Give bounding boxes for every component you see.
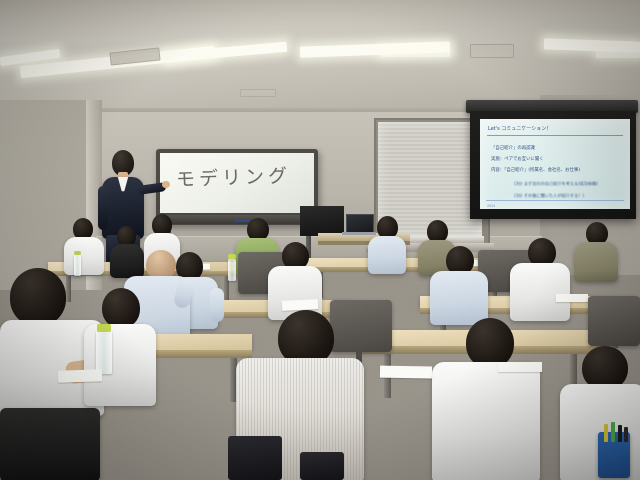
slide-footer: 2014 <box>487 204 495 208</box>
slide-canvas: Let's コミュニケーション！ 「自己紹介」の再認識 実施：ペアでお互いに聞く… <box>480 119 630 209</box>
ceiling-shadow <box>0 0 640 40</box>
bottle-cap <box>74 251 81 255</box>
handout-paper[interactable] <box>498 362 542 372</box>
slide-bullet: 内容：「自己紹介」(所属名、会社名、お仕事) <box>491 167 624 173</box>
attendee <box>510 238 572 320</box>
attendee <box>430 246 490 324</box>
pen[interactable] <box>611 422 615 442</box>
ceiling-light <box>596 50 640 58</box>
attendee-torso <box>574 242 618 282</box>
bag[interactable] <box>228 436 282 480</box>
water-bottle[interactable] <box>228 258 236 281</box>
attendee-torso <box>368 236 406 274</box>
attendee <box>574 222 620 280</box>
attendee-arm <box>210 288 224 322</box>
slide-subline: (3分 まず自分の自己紹介を考える/成功体験) <box>514 181 624 187</box>
pen[interactable] <box>604 424 608 442</box>
air-vent <box>240 89 276 97</box>
slide-title-rule <box>487 135 623 136</box>
chair[interactable] <box>588 296 640 346</box>
bottle-cap <box>228 254 236 259</box>
presenter-hand <box>162 181 170 188</box>
whiteboard-surface: モデリング <box>160 153 314 213</box>
handout-paper[interactable] <box>556 294 588 302</box>
air-vent <box>470 44 514 58</box>
water-bottle[interactable] <box>96 330 112 374</box>
slide-footer-rule <box>486 200 624 201</box>
ceiling-light <box>380 49 450 57</box>
bottle-cap <box>97 324 111 332</box>
attendee <box>368 216 408 272</box>
attendee-torso <box>430 271 488 325</box>
whiteboard-text: モデリング <box>176 161 292 192</box>
attendee-head <box>102 288 140 328</box>
handout-paper[interactable] <box>380 366 432 379</box>
seminar-room-photo: モデリング Let's コミュニケーション！ 「自己紹介」の再認識 実施：ペアで… <box>0 0 640 480</box>
bag[interactable] <box>300 452 344 480</box>
av-equipment <box>300 206 344 236</box>
attendee-head <box>466 318 514 368</box>
attendee-torso <box>510 263 570 321</box>
slide-bullet: 「自己紹介」の再認識 <box>491 145 624 151</box>
pen[interactable] <box>618 425 622 442</box>
pen[interactable] <box>624 427 628 442</box>
attendee <box>64 218 106 272</box>
attendee-legs <box>0 408 100 480</box>
attendee-head <box>10 268 66 326</box>
projection-screen[interactable]: Let's コミュニケーション！ 「自己紹介」の再認識 実施：ペアでお互いに聞く… <box>470 111 636 219</box>
attendee-torso <box>432 362 540 480</box>
slide-subline: (3分 その後に聞いた人が紹介する！) <box>514 193 624 199</box>
slide-title: Let's コミュニケーション！ <box>488 125 622 132</box>
attendee <box>432 318 542 480</box>
slide-bullet: 実施：ペアでお互いに聞く <box>491 156 624 162</box>
handout-paper[interactable] <box>58 369 102 383</box>
attendee-torso <box>84 324 156 406</box>
